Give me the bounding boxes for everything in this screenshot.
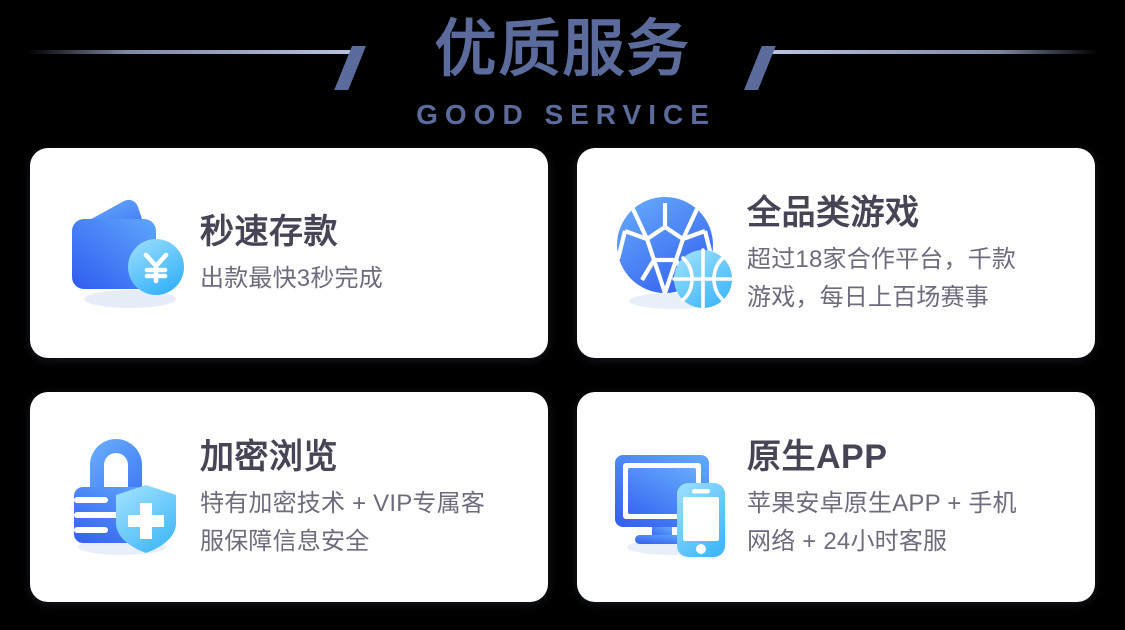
feature-card-title: 秒速存款 <box>200 210 526 254</box>
banner-header: 优质服务 GOOD SERVICE <box>0 0 1125 146</box>
feature-card-description-line: 网络 + 24小时客服 <box>747 523 1073 561</box>
feature-card-title: 加密浏览 <box>200 435 526 479</box>
feature-card-games[interactable]: 全品类游戏 超过18家合作平台，千款 游戏，每日上百场赛事 <box>577 148 1095 358</box>
feature-card-title: 全品类游戏 <box>747 191 1073 235</box>
soccer-basketball-icon <box>607 187 739 319</box>
feature-card-description-line: 苹果安卓原生APP + 手机 <box>747 485 1073 523</box>
feature-card-text: 全品类游戏 超过18家合作平台，千款 游戏，每日上百场赛事 <box>747 189 1073 317</box>
feature-card-description-line: 特有加密技术 + VIP专属客 <box>200 485 526 523</box>
feature-card-text: 原生APP 苹果安卓原生APP + 手机 网络 + 24小时客服 <box>747 433 1073 561</box>
feature-card-description-line: 出款最快3秒完成 <box>200 260 526 298</box>
feature-card-description: 苹果安卓原生APP + 手机 网络 + 24小时客服 <box>747 485 1073 561</box>
feature-card-text: 秒速存款 出款最快3秒完成 <box>200 208 526 298</box>
feature-card-deposit[interactable]: 秒速存款 出款最快3秒完成 <box>30 148 548 358</box>
feature-card-text: 加密浏览 特有加密技术 + VIP专属客 服保障信息安全 <box>200 433 526 561</box>
feature-card-description: 超过18家合作平台，千款 游戏，每日上百场赛事 <box>747 241 1073 317</box>
monitor-phone-icon <box>607 431 739 563</box>
page-title: 优质服务 <box>0 12 1125 88</box>
feature-card-description: 出款最快3秒完成 <box>200 260 526 298</box>
feature-card-title: 原生APP <box>747 435 1073 479</box>
feature-card-grid: 秒速存款 出款最快3秒完成 <box>30 148 1095 602</box>
feature-card-description-line: 超过18家合作平台，千款 <box>747 241 1073 279</box>
feature-card-encryption[interactable]: 加密浏览 特有加密技术 + VIP专属客 服保障信息安全 <box>30 392 548 602</box>
lock-shield-icon <box>60 431 192 563</box>
promo-banner: 优质服务 GOOD SERVICE <box>0 0 1125 630</box>
page-subtitle: GOOD SERVICE <box>0 98 1125 132</box>
feature-card-native-app[interactable]: 原生APP 苹果安卓原生APP + 手机 网络 + 24小时客服 <box>577 392 1095 602</box>
feature-card-description-line: 游戏，每日上百场赛事 <box>747 279 1073 317</box>
wallet-yen-icon <box>60 187 192 319</box>
feature-card-description-line: 服保障信息安全 <box>200 523 526 561</box>
feature-card-description: 特有加密技术 + VIP专属客 服保障信息安全 <box>200 485 526 561</box>
